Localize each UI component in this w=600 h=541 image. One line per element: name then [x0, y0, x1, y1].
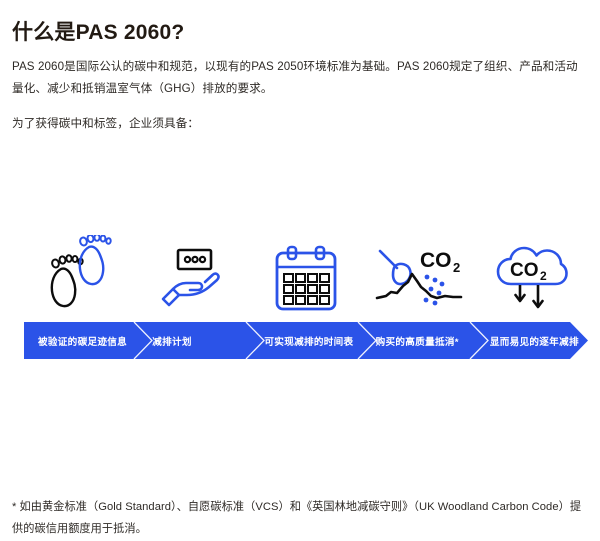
process-icon-4: CO 2 [362, 225, 475, 317]
footprints-icon [41, 235, 119, 315]
process-step-label-1: 被验证的碳足迹信息 [24, 322, 136, 359]
svg-text:CO: CO [420, 249, 452, 272]
process-step-label-5: 显而易见的逐年减排 [474, 322, 588, 359]
process-icon-5: CO 2 [475, 225, 588, 317]
process-step-label-2: 减排计划 [136, 322, 250, 359]
footnote-text: * 如由黄金标准（Gold Standard）、自愿碳标准（VCS）和《英国林地… [12, 497, 592, 541]
process-icon-row: CO 2 [24, 225, 588, 317]
process-icon-1 [24, 225, 137, 317]
process-chevron-band: 被验证的碳足迹信息 减排计划 可实现减排的时间表 购买的高质量抵消* 显而易见的… [24, 322, 588, 359]
hand-holding-banknote-icon [157, 243, 229, 315]
process-icon-2 [137, 225, 250, 317]
process-step-label-3: 可实现减排的时间表 [250, 322, 362, 359]
page-title: 什么是PAS 2060? [12, 20, 184, 46]
co2-cloud-down-arrows-icon: CO 2 [494, 241, 570, 315]
process-diagram: CO 2 [0, 225, 600, 365]
process-icon-3 [250, 225, 363, 317]
svg-text:2: 2 [453, 260, 460, 275]
svg-text:2: 2 [540, 269, 547, 283]
process-step-label-4: 购买的高质量抵消* [363, 322, 474, 359]
shovel-co2-terrain-icon: CO 2 [373, 243, 465, 315]
chevron-band-labels: 被验证的碳足迹信息 减排计划 可实现减排的时间表 购买的高质量抵消* 显而易见的… [24, 322, 588, 359]
svg-text:CO: CO [510, 260, 539, 281]
intro-paragraph: PAS 2060是国际公认的碳中和规范，以现有的PAS 2050环境标准为基础。… [12, 56, 588, 101]
calendar-icon [273, 245, 339, 315]
lead-in-text: 为了获得碳中和标签，企业须具备： [12, 113, 588, 136]
